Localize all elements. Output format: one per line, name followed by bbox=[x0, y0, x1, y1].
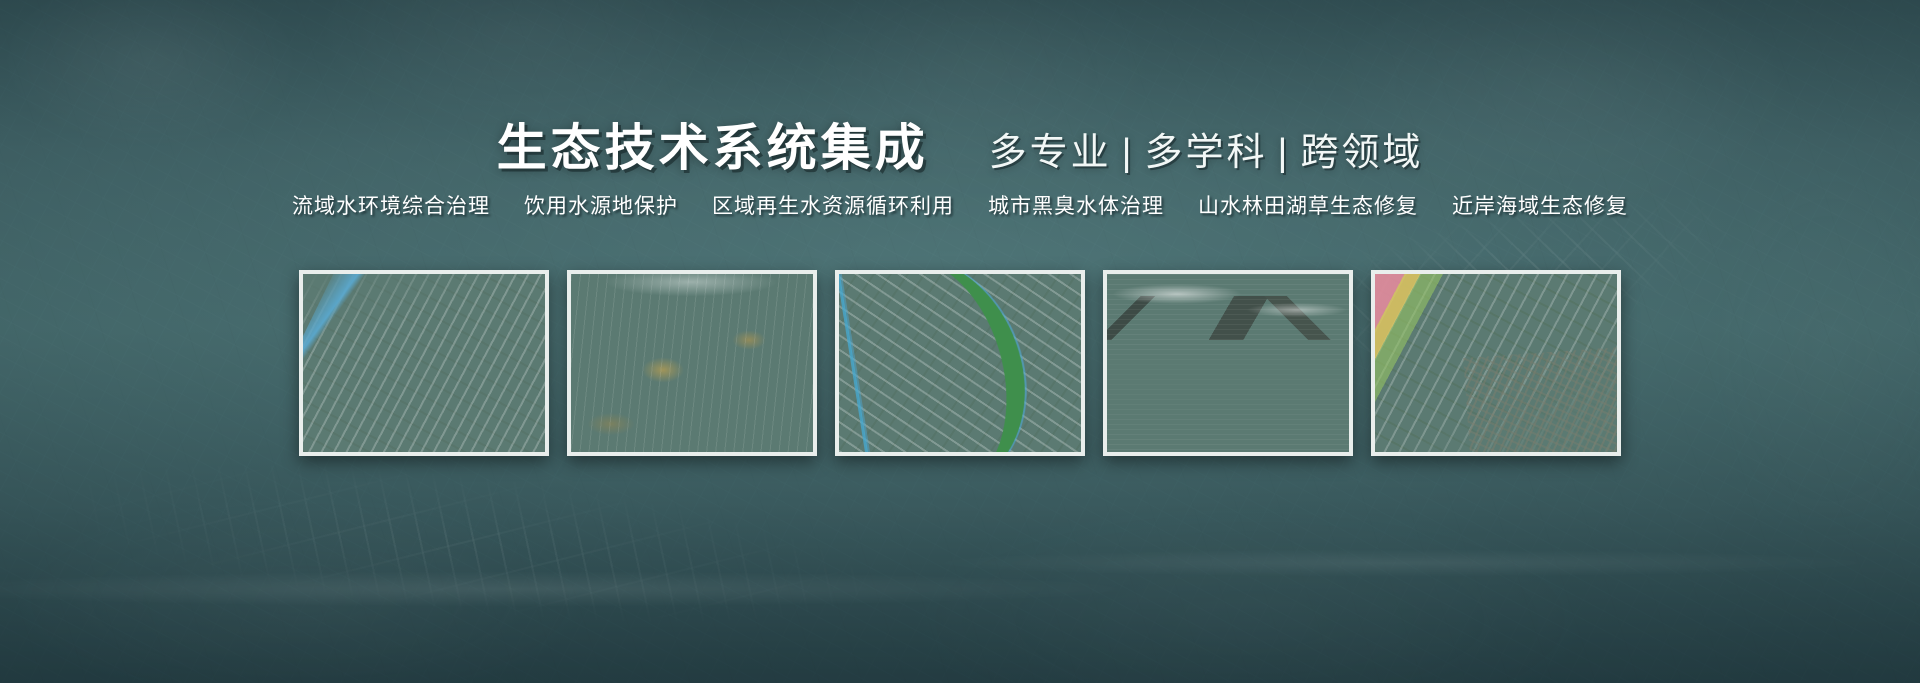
subheadline-separator-2: | bbox=[1268, 132, 1301, 174]
subheadline-separator-1: | bbox=[1112, 132, 1145, 174]
gallery-card-1[interactable] bbox=[299, 270, 549, 456]
banner-content: 生态技术系统集成 多专业|多学科|跨领域 流域水环境综合治理 饮用水源地保护 区… bbox=[0, 0, 1920, 683]
gallery-card-5[interactable] bbox=[1371, 270, 1621, 456]
service-tag-mountain-river-restoration[interactable]: 山水林田湖草生态修复 bbox=[1198, 190, 1418, 220]
service-tag-list: 流域水环境综合治理 饮用水源地保护 区域再生水资源循环利用 城市黑臭水体治理 山… bbox=[0, 190, 1920, 220]
gallery-image-farmland-patchwork bbox=[1375, 274, 1617, 452]
service-tag-watershed[interactable]: 流域水环境综合治理 bbox=[292, 190, 490, 220]
service-tag-reclaimed-water[interactable]: 区域再生水资源循环利用 bbox=[712, 190, 954, 220]
service-tag-coastal-restoration[interactable]: 近岸海域生态修复 bbox=[1452, 190, 1628, 220]
gallery-card-4[interactable] bbox=[1103, 270, 1353, 456]
subheadline-part-2: 多学科 bbox=[1144, 132, 1267, 174]
service-tag-drinking-water[interactable]: 饮用水源地保护 bbox=[524, 190, 678, 220]
gallery-image-watershed-aerial bbox=[303, 274, 545, 452]
banner-headline: 生态技术系统集成 bbox=[497, 108, 929, 180]
gallery-image-mountain-lake bbox=[1107, 274, 1349, 452]
service-tag-black-odorous-water[interactable]: 城市黑臭水体治理 bbox=[988, 190, 1164, 220]
headline-row: 生态技术系统集成 多专业|多学科|跨领域 bbox=[0, 108, 1920, 180]
gallery-image-green-corridor bbox=[839, 274, 1081, 452]
ecology-technology-banner: 生态技术系统集成 多专业|多学科|跨领域 流域水环境综合治理 饮用水源地保护 区… bbox=[0, 0, 1920, 683]
subheadline-part-1: 多专业 bbox=[989, 132, 1112, 174]
gallery-card-2[interactable] bbox=[567, 270, 817, 456]
subheadline-part-3: 跨领域 bbox=[1300, 132, 1423, 174]
gallery-card-3[interactable] bbox=[835, 270, 1085, 456]
banner-subheadline: 多专业|多学科|跨领域 bbox=[989, 121, 1424, 176]
gallery-image-lake-islands bbox=[571, 274, 813, 452]
project-gallery bbox=[0, 270, 1920, 456]
